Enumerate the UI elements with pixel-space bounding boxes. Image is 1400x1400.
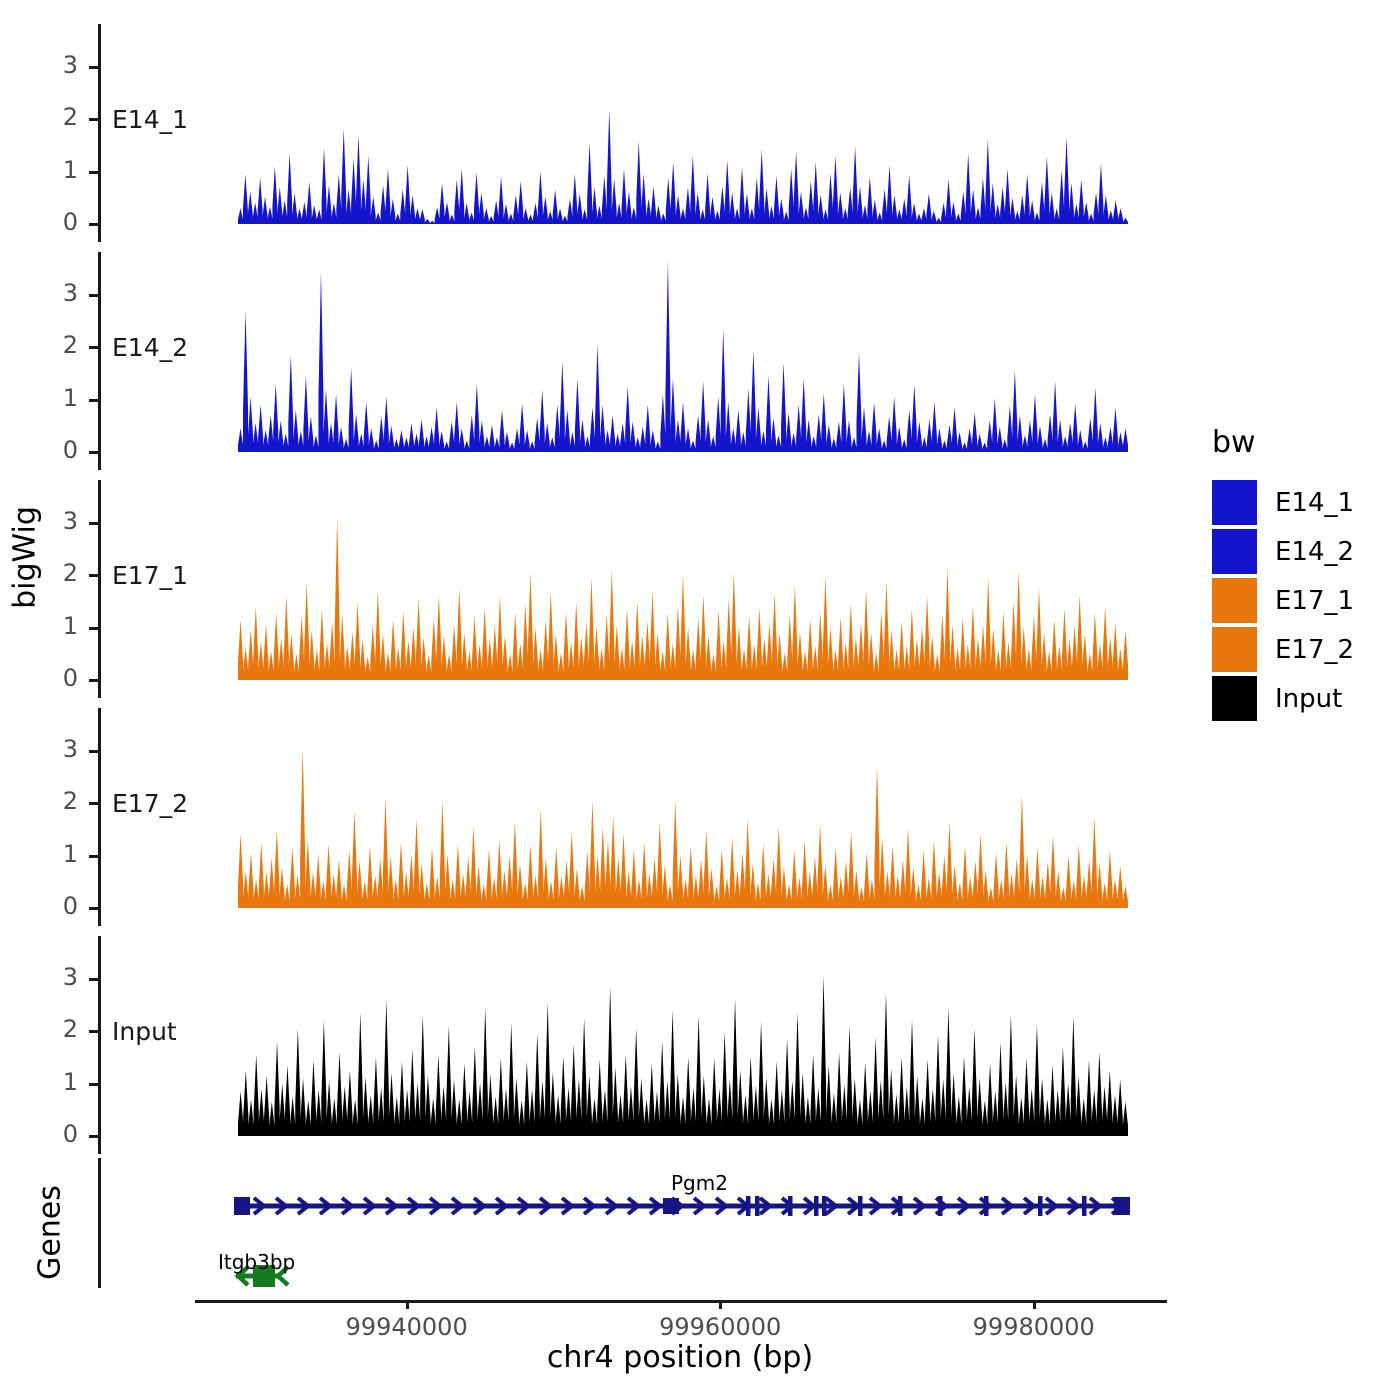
y-tick-mark xyxy=(89,627,98,630)
y-tick-label: 2 xyxy=(28,787,78,815)
y-tick-mark xyxy=(89,978,98,981)
y-tick-mark xyxy=(89,346,98,349)
x-axis-line xyxy=(195,1300,1167,1303)
gene-label-pgm2: Pgm2 xyxy=(671,1171,728,1195)
x-axis-title: chr4 position (bp) xyxy=(395,1340,965,1375)
figure-root: bigWig Genes 0123E14_10123E14_20123E17_1… xyxy=(0,0,1400,1400)
y-tick-mark xyxy=(89,399,98,402)
y-tick-label: 2 xyxy=(28,103,78,131)
coverage-area-e14_2 xyxy=(98,252,1168,470)
y-tick-mark xyxy=(89,294,98,297)
y-tick-label: 2 xyxy=(28,559,78,587)
y-tick-mark xyxy=(89,1135,98,1138)
y-tick-label: 0 xyxy=(28,664,78,692)
genes-panel: Pgm2 Itgb3bp xyxy=(98,1158,1168,1300)
coverage-area-e17_1 xyxy=(98,480,1168,698)
track-panel-e14_1: 0123E14_1 xyxy=(98,24,1168,242)
y-tick-mark xyxy=(89,679,98,682)
x-tick-label: 99960000 xyxy=(659,1313,781,1341)
y-tick-label: 3 xyxy=(28,279,78,307)
x-tick-label: 99980000 xyxy=(973,1313,1095,1341)
legend-color-swatch xyxy=(1212,578,1257,623)
track-panel-e17_2: 0123E17_2 xyxy=(98,708,1168,926)
y-tick-mark xyxy=(89,1030,98,1033)
x-tick-mark xyxy=(719,1300,722,1309)
x-tick-label: 99940000 xyxy=(346,1313,468,1341)
legend-label: Input xyxy=(1275,684,1342,714)
coverage-area-input xyxy=(98,936,1168,1154)
legend: bw E14_1E14_2E17_1E17_2Input xyxy=(1212,425,1392,705)
y-tick-mark xyxy=(89,451,98,454)
y-tick-mark xyxy=(89,522,98,525)
gene-label-itgb3bp: Itgb3bp xyxy=(218,1250,295,1274)
y-tick-mark xyxy=(89,171,98,174)
y-tick-label: 0 xyxy=(28,208,78,236)
track-panel-e17_1: 0123E17_1 xyxy=(98,480,1168,698)
track-panel-e14_2: 0123E14_2 xyxy=(98,252,1168,470)
legend-label: E17_1 xyxy=(1275,586,1354,616)
genes-axis-title: Genes xyxy=(33,1168,68,1298)
y-tick-label: 1 xyxy=(28,1068,78,1096)
y-tick-label: 3 xyxy=(28,507,78,535)
legend-label: E14_1 xyxy=(1275,488,1354,518)
y-tick-mark xyxy=(89,855,98,858)
track-panel-input: 0123Input xyxy=(98,936,1168,1154)
y-tick-label: 2 xyxy=(28,1015,78,1043)
y-tick-label: 0 xyxy=(28,436,78,464)
y-tick-label: 0 xyxy=(28,892,78,920)
legend-color-swatch xyxy=(1212,627,1257,672)
x-tick-mark xyxy=(1033,1300,1036,1309)
y-tick-mark xyxy=(89,1083,98,1086)
gene-models-svg xyxy=(98,1158,1168,1300)
y-tick-label: 0 xyxy=(28,1120,78,1148)
legend-color-swatch xyxy=(1212,676,1257,721)
x-tick-mark xyxy=(406,1300,409,1309)
legend-label: E14_2 xyxy=(1275,537,1354,567)
legend-title: bw xyxy=(1212,425,1256,460)
y-tick-mark xyxy=(89,223,98,226)
y-tick-label: 3 xyxy=(28,963,78,991)
legend-item-input[interactable]: Input xyxy=(1212,676,1342,721)
legend-item-e14_2[interactable]: E14_2 xyxy=(1212,529,1354,574)
legend-item-e17_1[interactable]: E17_1 xyxy=(1212,578,1354,623)
y-tick-mark xyxy=(89,750,98,753)
y-tick-mark xyxy=(89,907,98,910)
y-tick-mark xyxy=(89,574,98,577)
legend-color-swatch xyxy=(1212,480,1257,525)
y-tick-label: 1 xyxy=(28,840,78,868)
y-tick-label: 1 xyxy=(28,384,78,412)
coverage-area-e14_1 xyxy=(98,24,1168,242)
y-tick-label: 3 xyxy=(28,735,78,763)
y-tick-label: 1 xyxy=(28,156,78,184)
y-tick-mark xyxy=(89,802,98,805)
legend-label: E17_2 xyxy=(1275,635,1354,665)
legend-item-e14_1[interactable]: E14_1 xyxy=(1212,480,1354,525)
legend-color-swatch xyxy=(1212,529,1257,574)
y-tick-label: 2 xyxy=(28,331,78,359)
coverage-area-e17_2 xyxy=(98,708,1168,926)
y-tick-label: 1 xyxy=(28,612,78,640)
legend-item-e17_2[interactable]: E17_2 xyxy=(1212,627,1354,672)
y-tick-mark xyxy=(89,118,98,121)
y-tick-label: 3 xyxy=(28,51,78,79)
y-tick-mark xyxy=(89,66,98,69)
